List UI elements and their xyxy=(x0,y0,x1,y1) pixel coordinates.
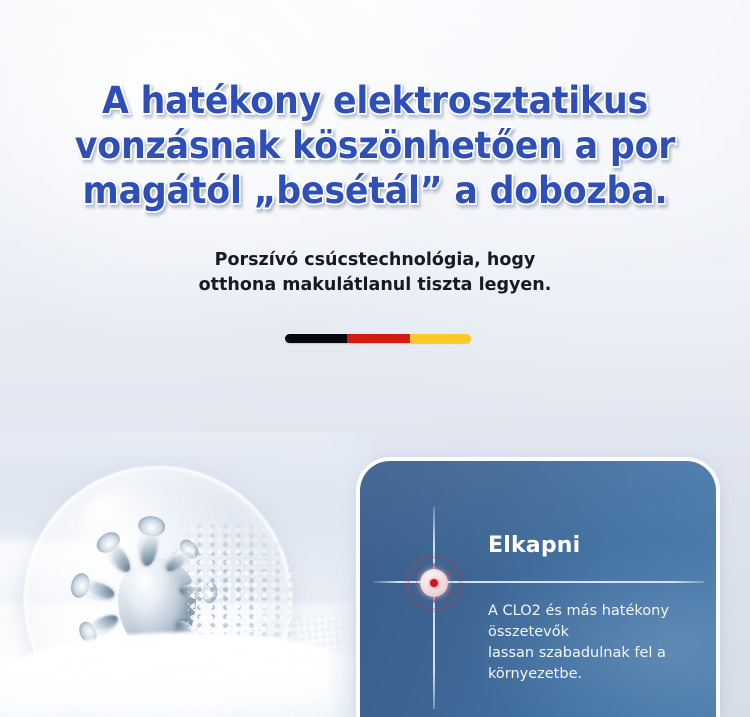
headline-line-1: A hatékony elektrosztatikus xyxy=(23,78,728,123)
photo-top-fade xyxy=(0,432,372,472)
subtitle-line-2: otthona makulátlanul tiszta legyen. xyxy=(0,273,750,298)
card-description-line-1: A CLO2 és más hatékony xyxy=(488,601,700,622)
card-description-line-3: lassan szabadulnak fel a xyxy=(488,643,700,664)
catch-feature-card[interactable]: Elkapni A CLO2 és más hatékony összetevő… xyxy=(360,461,716,717)
headline-line-3: magától „besétál” a dobozba. xyxy=(23,168,728,213)
headline-line-2: vonzásnak köszönhetően a por xyxy=(23,123,728,168)
card-description: A CLO2 és más hatékony összetevők lassan… xyxy=(488,601,700,685)
flag-segment-black xyxy=(285,334,347,343)
german-flag-bar xyxy=(285,334,471,343)
virus-bubble-image xyxy=(0,432,372,717)
target-center-dot xyxy=(430,579,438,587)
card-description-line-2: összetevők xyxy=(488,622,700,643)
crosshair-target-icon xyxy=(408,557,460,609)
flag-segment-gold xyxy=(410,334,471,343)
flag-segment-red xyxy=(347,334,409,343)
subtitle-line-1: Porszívó csúcstechnológia, hogy xyxy=(0,248,750,273)
card-title: Elkapni xyxy=(488,533,580,558)
card-description-line-4: környezetbe. xyxy=(488,664,700,685)
subtitle: Porszívó csúcstechnológia, hogy otthona … xyxy=(0,248,750,298)
page-title: A hatékony elektrosztatikus vonzásnak kö… xyxy=(23,78,728,213)
promo-banner: A hatékony elektrosztatikus vonzásnak kö… xyxy=(0,0,750,717)
